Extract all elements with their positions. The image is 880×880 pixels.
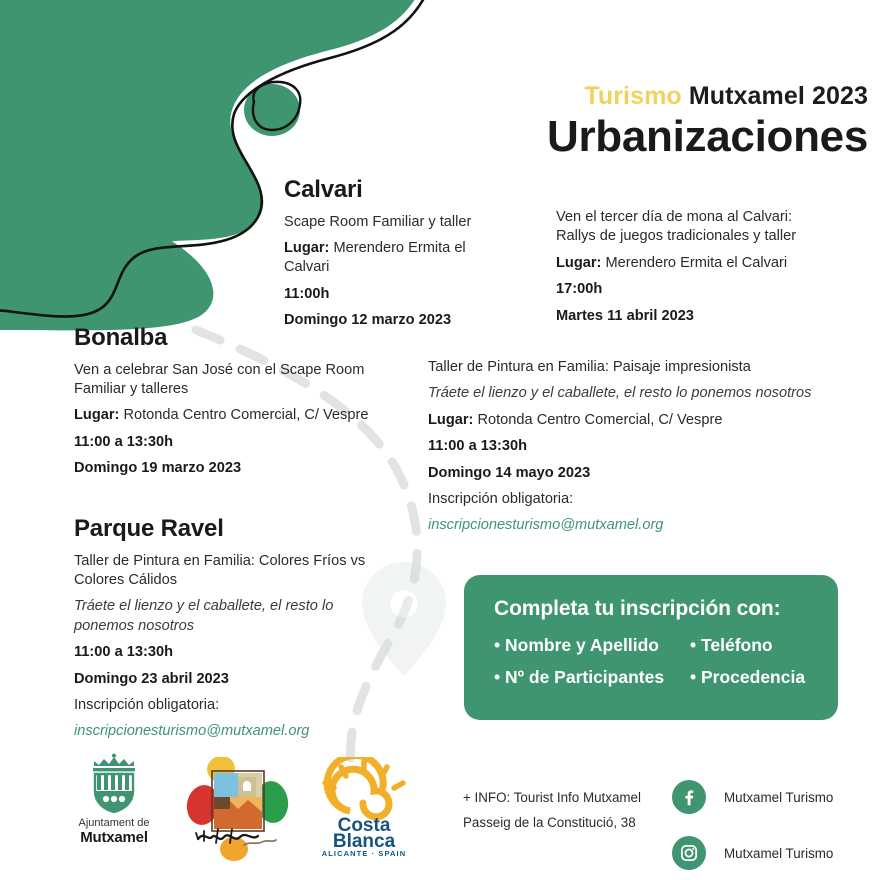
event-place: Lugar: Rotonda Centro Comercial, C/ Vesp…: [428, 411, 818, 430]
infobox-item: • Nº de Participantes: [494, 667, 690, 688]
event-description: Taller de Pintura en Familia: Paisaje im…: [428, 358, 818, 377]
mutxamel-coat-of-arms-icon: [85, 753, 143, 815]
event-date: Martes 11 abril 2023: [556, 307, 856, 326]
green-island: [244, 84, 300, 136]
infobox-item: • Nombre y Apellido: [494, 635, 690, 656]
event-description: Scape Room Familiar y taller: [284, 213, 514, 232]
registration-label: Inscripción obligatoria:: [74, 696, 389, 715]
event-description: Taller de Pintura en Familia: Colores Fr…: [74, 552, 389, 591]
social-row-facebook[interactable]: Mutxamel Turismo: [672, 778, 833, 816]
ajuntament-line2: Mutxamel: [52, 829, 176, 846]
event-time: 11:00 a 13:30h: [74, 433, 374, 452]
costa-blanca-icon: Costa Blanca ALICANTE · SPAIN: [312, 757, 416, 857]
logo-costa-blanca: Costa Blanca ALICANTE · SPAIN: [312, 757, 416, 862]
event-title: Parque Ravel: [74, 515, 389, 543]
ajuntament-line1: Ajuntament de: [52, 817, 176, 829]
event-block-parque-ravel: Parque Ravel Taller de Pintura en Famili…: [74, 515, 389, 742]
event-block-calvari: Calvari Scape Room Familiar y taller Lug…: [284, 176, 514, 338]
footer-contact-info: + INFO: Tourist Info Mutxamel Passeig de…: [463, 786, 641, 836]
island-outline: [253, 82, 300, 104]
kicker-accent: Turismo: [584, 82, 681, 110]
poster-header: Turismo Mutxamel 2023 Urbanizaciones: [508, 82, 868, 160]
event-note: Tráete el lienzo y el caballete, el rest…: [428, 384, 818, 403]
event-block-calvari-secondary: Ven el tercer día de mona al Calvari: Ra…: [556, 208, 856, 333]
place-value: Rotonda Centro Comercial, C/ Vespre: [123, 407, 368, 423]
place-label: Lugar:: [74, 407, 119, 423]
event-title: Calvari: [284, 176, 514, 204]
event-block-bonalba-secondary: Taller de Pintura en Familia: Paisaje im…: [428, 358, 818, 536]
event-title: Bonalba: [74, 324, 374, 352]
event-time: 11:00h: [284, 285, 514, 304]
place-label: Lugar:: [428, 412, 473, 428]
infobox-item: • Procedencia: [690, 667, 805, 688]
event-place: Lugar: Merendero Ermita el Calvari: [284, 239, 514, 278]
place-value: Merendero Ermita el Calvari: [605, 255, 787, 271]
green-blob-lobe: [0, 200, 213, 330]
place-value: Rotonda Centro Comercial, C/ Vespre: [477, 412, 722, 428]
instagram-icon[interactable]: [672, 836, 706, 870]
kicker-rest: Mutxamel 2023: [689, 82, 868, 110]
footer-info-line2: Passeig de la Constitució, 38: [463, 811, 641, 836]
event-time: 11:00 a 13:30h: [74, 643, 389, 662]
infobox-heading: Completa tu inscripción con:: [494, 597, 812, 621]
event-time: 11:00 a 13:30h: [428, 437, 818, 456]
event-block-bonalba: Bonalba Ven a celebrar San José con el S…: [74, 324, 374, 486]
place-label: Lugar:: [284, 240, 329, 256]
registration-info-box: Completa tu inscripción con: • Nombre y …: [464, 575, 838, 720]
header-kicker: Turismo Mutxamel 2023: [508, 82, 868, 111]
event-place: Lugar: Merendero Ermita el Calvari: [556, 254, 856, 273]
event-date: Domingo 14 mayo 2023: [428, 464, 818, 483]
social-row-instagram[interactable]: Mutxamel Turismo: [672, 834, 833, 872]
infobox-row: • Nombre y Apellido • Teléfono: [494, 635, 812, 656]
logo-mutxamel-explore: [186, 757, 292, 866]
event-description: Ven a celebrar San José con el Scape Roo…: [74, 361, 374, 400]
event-description-line1: Ven el tercer día de mona al Calvari:: [556, 209, 792, 225]
page-title: Urbanizaciones: [508, 113, 868, 161]
social-links: Mutxamel Turismo Mutxamel Turismo: [672, 778, 833, 880]
event-description-line2: Rallys de juegos tradicionales y taller: [556, 228, 796, 244]
infobox-item: • Teléfono: [690, 635, 773, 656]
logo-ajuntament-mutxamel: Ajuntament de Mutxamel: [52, 753, 176, 846]
social-label: Mutxamel Turismo: [724, 790, 833, 805]
footer-info-line1: + INFO: Tourist Info Mutxamel: [463, 786, 641, 811]
registration-label: Inscripción obligatoria:: [428, 490, 818, 509]
event-note: Tráete el lienzo y el caballete, el rest…: [74, 597, 389, 636]
event-description: Ven el tercer día de mona al Calvari: Ra…: [556, 208, 856, 247]
place-label: Lugar:: [556, 255, 601, 271]
poster: Turismo Mutxamel 2023 Urbanizaciones Cal…: [0, 0, 880, 880]
event-date: Domingo 23 abril 2023: [74, 670, 389, 689]
event-time: 17:00h: [556, 280, 856, 299]
facebook-icon[interactable]: [672, 780, 706, 814]
island-outline-2: [253, 102, 300, 130]
event-place: Lugar: Rotonda Centro Comercial, C/ Vesp…: [74, 406, 374, 425]
social-label: Mutxamel Turismo: [724, 846, 833, 861]
registration-email[interactable]: inscripcionesturismo@mutxamel.org: [74, 722, 389, 741]
costa-blanca-line3: ALICANTE · SPAIN: [322, 849, 407, 857]
mutxamel-explore-icon: [186, 757, 292, 861]
registration-email[interactable]: inscripcionesturismo@mutxamel.org: [428, 516, 818, 535]
infobox-row: • Nº de Participantes • Procedencia: [494, 667, 812, 688]
event-date: Domingo 19 marzo 2023: [74, 459, 374, 478]
